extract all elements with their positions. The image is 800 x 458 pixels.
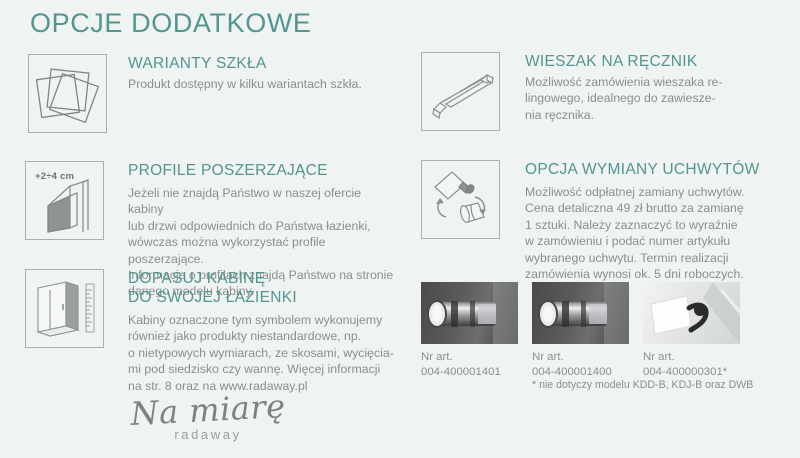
handle-exchange-text: OPCJA WYMIANY UCHWYTÓW Możliwość odpłatn… bbox=[525, 160, 760, 282]
towel-rail-text: WIESZAK NA RĘCZNIK Możliwość zamówienia … bbox=[525, 52, 723, 123]
towel-rail-icon bbox=[421, 52, 500, 131]
additional-options-page: OPCJE DODATKOWE WARIANTY SZKŁA Produkt d… bbox=[0, 0, 800, 458]
handle-knob-chrome-dark-photo bbox=[421, 282, 518, 344]
handle-exchange-title: OPCJA WYMIANY UCHWYTÓW bbox=[525, 160, 760, 179]
product-item[interactable]: Nr art. 004-400000301* bbox=[643, 282, 740, 379]
na-miare-logo: Na miarę radaway bbox=[118, 392, 298, 442]
glass-variants-title: WARIANTY SZKŁA bbox=[128, 54, 362, 73]
custom-cabin-text: DOPASUJ KABINĘ DO SWOJEJ ŁAZIENKI Kabiny… bbox=[128, 269, 394, 394]
custom-cabin-title-line1: DOPASUJ KABINĘ bbox=[128, 269, 394, 288]
product-caption: Nr art. 004-400000301* bbox=[643, 350, 740, 379]
handle-exchange-body: Możliwość odpłatnej zamiany uchwytów. Ce… bbox=[525, 184, 760, 282]
product-caption: Nr art. 004-400001400 bbox=[532, 350, 629, 379]
widening-profile-icon-label: +2÷4 cm bbox=[35, 171, 74, 182]
glass-variants-body: Produkt dostępny w kilku wariantach szkł… bbox=[128, 76, 362, 92]
logo-script-text: Na miarę bbox=[117, 387, 299, 432]
widening-profile-icon: +2÷4 cm bbox=[25, 161, 104, 240]
towel-rail-body: Możliwość zamówienia wieszaka re- lingow… bbox=[525, 74, 723, 123]
custom-cabin-body: Kabiny oznaczone tym symbolem wykonujemy… bbox=[128, 312, 394, 394]
handle-hook-light-photo bbox=[643, 282, 740, 344]
shower-cabin-ruler-icon bbox=[25, 269, 104, 348]
product-item[interactable]: Nr art. 004-400001400 bbox=[532, 282, 629, 379]
custom-cabin-title-line2: DO SWOJEJ ŁAZIENKI bbox=[128, 288, 394, 307]
products-footnote: * nie dotyczy modelu KDD-B, KDJ-B oraz D… bbox=[532, 379, 753, 391]
widening-profiles-title: PROFILE POSZERZAJĄCE bbox=[128, 161, 395, 180]
towel-rail-title: WIESZAK NA RĘCZNIK bbox=[525, 52, 723, 71]
page-title: OPCJE DODATKOWE bbox=[30, 8, 312, 39]
handle-exchange-icon bbox=[421, 160, 500, 239]
glass-variants-text: WARIANTY SZKŁA Produkt dostępny w kilku … bbox=[128, 54, 362, 92]
product-caption: Nr art. 004-400001401 bbox=[421, 350, 518, 379]
product-item[interactable]: Nr art. 004-400001401 bbox=[421, 282, 518, 379]
glass-panes-icon bbox=[28, 54, 107, 133]
handle-knob-chrome-dark-photo bbox=[532, 282, 629, 344]
